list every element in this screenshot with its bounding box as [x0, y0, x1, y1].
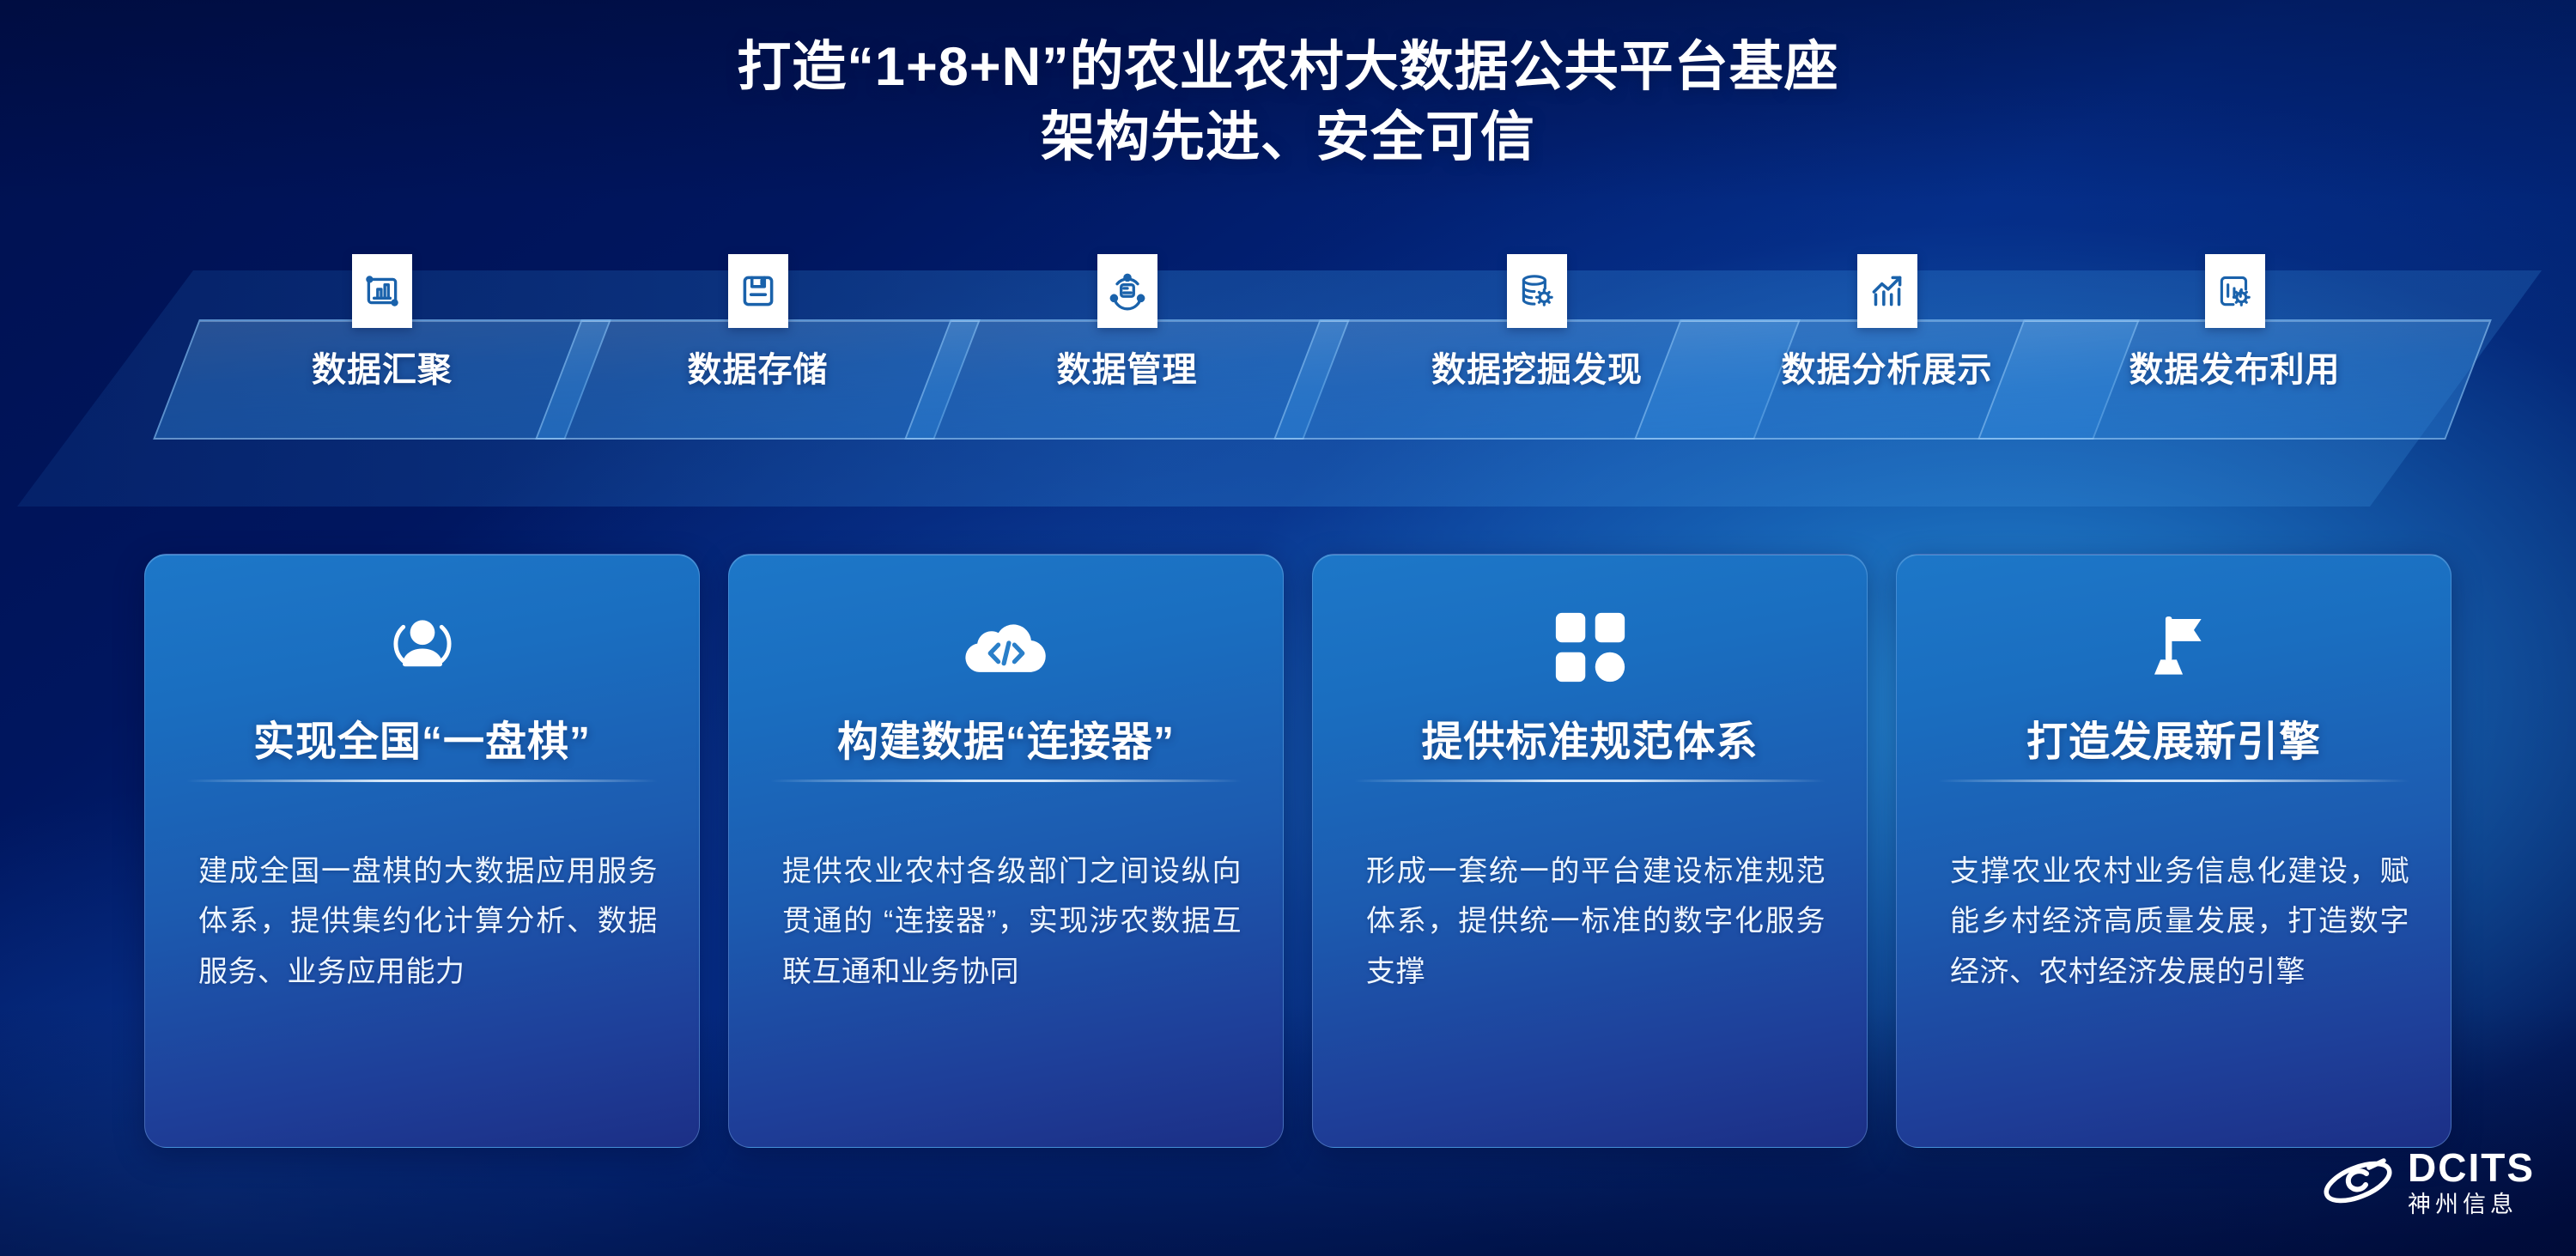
- card-body: 建成全国一盘棋的大数据应用服务体系，提供集约化计算分析、数据服务、业务应用能力: [198, 846, 658, 997]
- process-step-data-management[interactable]: 数据管理: [927, 319, 1327, 440]
- card-title: 构建数据“连接器”: [729, 707, 1283, 768]
- database-gear-icon: [1507, 254, 1567, 328]
- title-line-1: 打造“1+8+N”的农业农村大数据公共平台基座: [0, 33, 2576, 103]
- feature-card-growth-engine[interactable]: 打造发展新引擎 支撑农业农村业务信息化建设，赋能乡村经济高质量发展，打造数字经济…: [1896, 554, 2451, 1148]
- step-label: 数据管理: [927, 342, 1327, 391]
- logo-en-text: DCITS: [2408, 1148, 2535, 1187]
- process-band: 数据汇聚 数据存储: [0, 249, 2576, 532]
- logo-cn-text: 神州信息: [2408, 1193, 2535, 1217]
- step-label: 数据存储: [558, 342, 957, 391]
- feature-card-list: 实现全国“一盘棋” 建成全国一盘棋的大数据应用服务体系，提供集约化计算分析、数据…: [0, 554, 2576, 1146]
- step-label: 数据发布利用: [2001, 342, 2469, 391]
- feature-card-standards[interactable]: 提供标准规范体系 形成一套统一的平台建设标准规范体系，提供统一标准的数字化服务支…: [1312, 554, 1868, 1148]
- data-network-icon: [1097, 254, 1157, 328]
- card-title: 打造发展新引擎: [1897, 707, 2451, 768]
- feature-card-data-connector[interactable]: 构建数据“连接器” 提供农业农村各级部门之间设纵向贯通的 “连接器”，实现涉农数…: [728, 554, 1284, 1148]
- process-step-data-publishing[interactable]: 数据发布利用: [2001, 319, 2469, 440]
- floppy-disk-icon: [728, 254, 788, 328]
- panel-gear-icon: [2205, 254, 2265, 328]
- feature-card-national-chess[interactable]: 实现全国“一盘棋” 建成全国一盘棋的大数据应用服务体系，提供集约化计算分析、数据…: [144, 554, 700, 1148]
- trend-bar-chart-icon: [1857, 254, 1917, 328]
- card-divider: [1938, 780, 2409, 782]
- bar-chart-frame-icon: [352, 254, 412, 328]
- orbit-swoosh-icon: [2322, 1152, 2394, 1212]
- card-body: 提供农业农村各级部门之间设纵向贯通的 “连接器”，实现涉农数据互联互通和业务协同: [782, 846, 1242, 997]
- card-title: 实现全国“一盘棋”: [145, 707, 699, 768]
- logo-text: DCITS 神州信息: [2408, 1148, 2535, 1217]
- card-body: 形成一套统一的平台建设标准规范体系，提供统一标准的数字化服务支撑: [1366, 846, 1826, 997]
- process-step-data-storage[interactable]: 数据存储: [558, 319, 957, 440]
- card-title: 提供标准规范体系: [1313, 707, 1867, 768]
- card-divider: [770, 780, 1242, 782]
- four-blocks-icon: [1313, 606, 1867, 689]
- cloud-code-icon: [729, 606, 1283, 689]
- page-title: 打造“1+8+N”的农业农村大数据公共平台基座 架构先进、安全可信: [0, 33, 2576, 173]
- flag-icon: [1897, 606, 2451, 689]
- card-divider: [1354, 780, 1826, 782]
- card-divider: [186, 780, 658, 782]
- slide-canvas: 打造“1+8+N”的农业农村大数据公共平台基座 架构先进、安全可信: [0, 0, 2576, 1256]
- process-step-list: 数据汇聚 数据存储: [0, 249, 2576, 532]
- process-step-data-aggregation[interactable]: 数据汇聚: [176, 319, 588, 440]
- title-line-2: 架构先进、安全可信: [0, 103, 2576, 173]
- people-icon: [145, 606, 699, 689]
- card-body: 支撑农业农村业务信息化建设，赋能乡村经济高质量发展，打造数字经济、农村经济发展的…: [1950, 846, 2409, 997]
- step-label: 数据汇聚: [176, 342, 588, 391]
- brand-logo: DCITS 神州信息: [2322, 1148, 2535, 1217]
